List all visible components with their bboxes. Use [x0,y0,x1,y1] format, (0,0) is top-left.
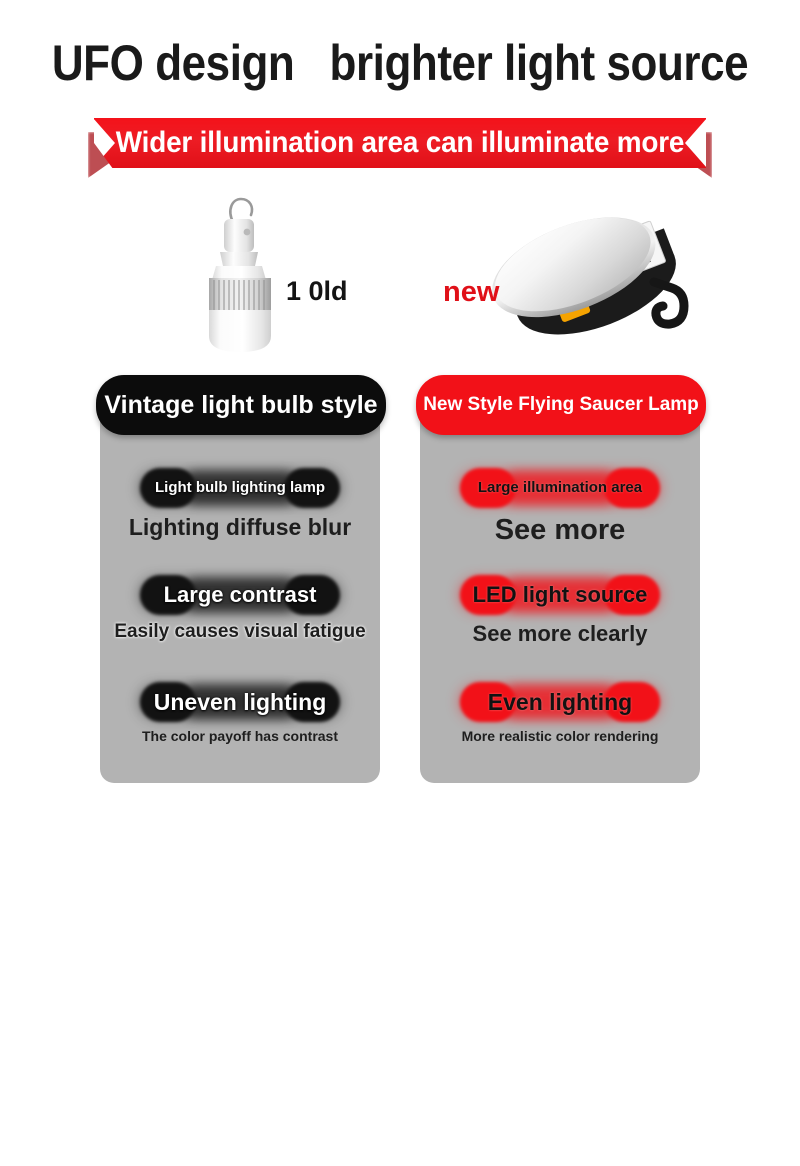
feature-subtext: See more [420,514,700,547]
feature-row-new-3: Even lighting More realistic color rende… [420,682,700,744]
feature-subtext: More realistic color rendering [420,728,700,744]
feature-row-old-2: Large contrast Easily causes visual fati… [100,575,380,643]
feature-pill-label: Large contrast [140,575,340,615]
vintage-bulb-photo [186,196,296,354]
feature-pill-label: LED light source [460,575,660,615]
page-headline: UFO designbrighter light source [48,34,752,92]
feature-pill-label: Even lighting [460,682,660,722]
ufo-saucer-lamp-photo [486,196,694,356]
highlight-banner: Wider illumination area can illuminate m… [88,118,712,178]
product-label-new: new [443,276,499,309]
feature-pill-new-1: Large illumination area [460,468,660,508]
feature-pill-old-1: Light bulb lighting lamp [140,468,340,508]
feature-pill-new-3: Even lighting [460,682,660,722]
feature-subtext: Easily causes visual fatigue [100,621,380,643]
feature-row-old-1: Light bulb lighting lamp Lighting diffus… [100,468,380,541]
product-label-old: 1 0ld [286,276,348,307]
feature-pill-old-2: Large contrast [140,575,340,615]
feature-pill-old-3: Uneven lighting [140,682,340,722]
feature-pill-new-2: LED light source [460,575,660,615]
headline-part-2: brighter light source [330,35,749,91]
feature-pill-label: Light bulb lighting lamp [140,468,340,508]
headline-part-1: UFO design [52,35,295,91]
feature-row-new-2: LED light source See more clearly [420,575,700,647]
card-header-new: New Style Flying Saucer Lamp [416,375,706,435]
feature-pill-label: Large illumination area [460,468,660,508]
banner-text: Wider illumination area can illuminate m… [115,118,684,168]
feature-subtext: See more clearly [420,621,700,647]
card-header-old: Vintage light bulb style [96,375,386,435]
feature-pill-label: Uneven lighting [140,682,340,722]
feature-row-old-3: Uneven lighting The color payoff has con… [100,682,380,744]
feature-row-new-1: Large illumination area See more [420,468,700,547]
card-watermark [250,1144,430,1166]
feature-subtext: The color payoff has contrast [100,728,380,744]
feature-subtext: Lighting diffuse blur [100,514,380,541]
